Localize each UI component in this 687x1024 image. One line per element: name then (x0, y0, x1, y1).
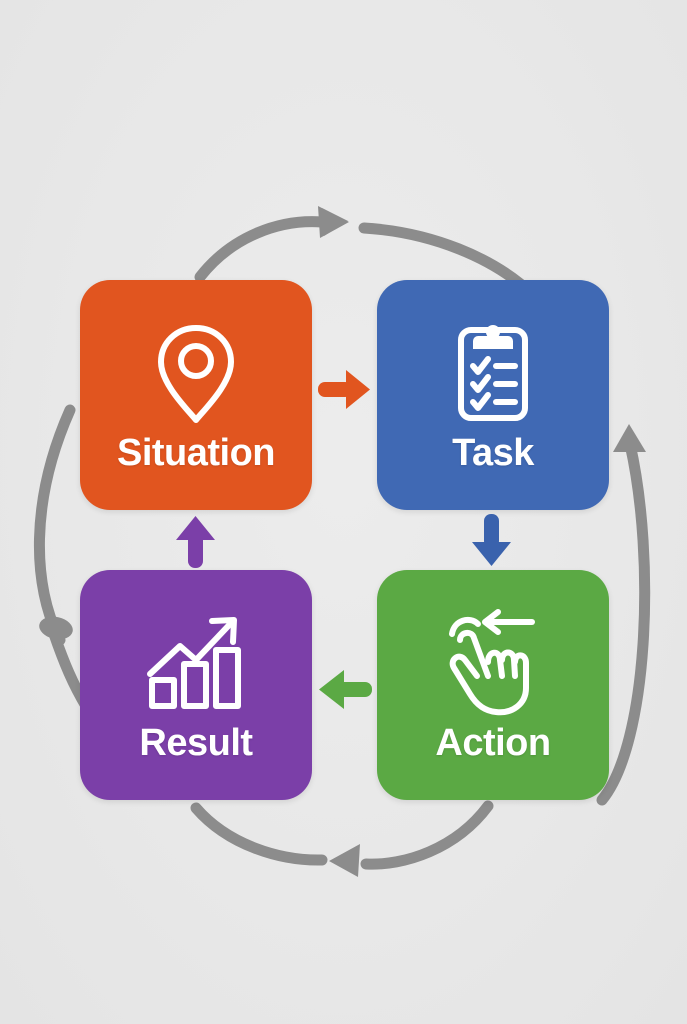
stage-label-action: Action (435, 724, 550, 762)
arc-bottom-right-path (366, 806, 488, 864)
stage-card-task[interactable]: Task (377, 280, 609, 510)
arc-right-arrowhead-icon (613, 424, 646, 452)
arc-bottom-left-path (196, 808, 322, 860)
growth-bar-chart-icon (140, 606, 252, 718)
stage-card-action[interactable]: Action (377, 570, 609, 800)
connector-action-to-result (314, 658, 374, 722)
stage-label-task: Task (452, 434, 534, 472)
arc-top-arrowhead-wing-icon (322, 208, 348, 236)
location-pin-icon (148, 316, 244, 428)
connector-result-to-situation (164, 512, 228, 570)
hand-swipe-gesture-icon (440, 606, 546, 718)
diagram-canvas: Situation Task (0, 0, 687, 1024)
stage-label-result: Result (139, 724, 252, 762)
arc-bottom-arrowhead-icon (329, 844, 360, 877)
clipboard-checklist-icon (447, 316, 539, 428)
connector-situation-to-task (316, 358, 374, 422)
stage-card-result[interactable]: Result (80, 570, 312, 800)
arc-left-arrowhead-icon (37, 614, 75, 643)
arc-top-arrowhead-icon (318, 206, 349, 238)
arc-left-path (39, 410, 70, 640)
stage-label-situation: Situation (117, 434, 275, 472)
connector-task-to-action (460, 512, 524, 570)
cycle-arrows-group (0, 0, 687, 1024)
stage-card-situation[interactable]: Situation (80, 280, 312, 510)
arc-top-left-path (200, 222, 322, 277)
